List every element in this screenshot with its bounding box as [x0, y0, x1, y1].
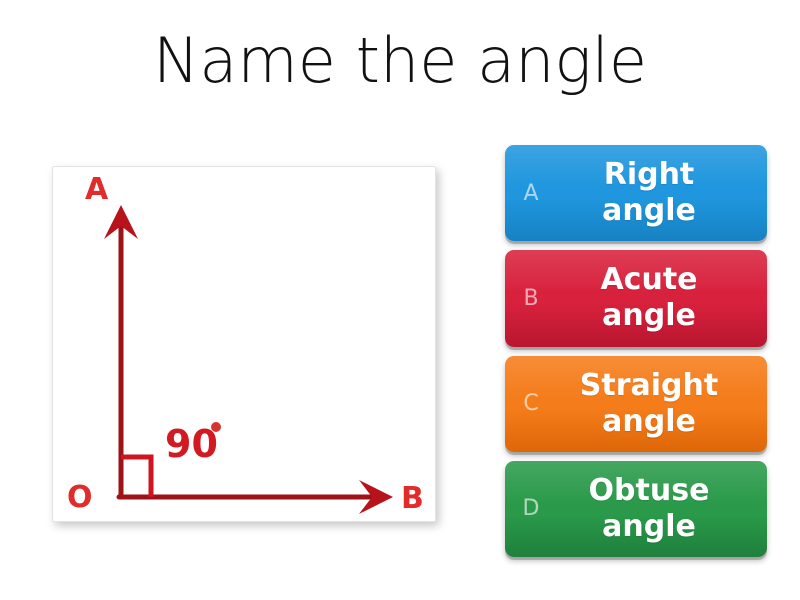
answer-label-c: Straightangle [549, 368, 757, 440]
answer-option-d[interactable]: D Obtuseangle [505, 461, 767, 557]
answer-label-a: Rightangle [549, 157, 757, 229]
angle-measure-value: 90 [165, 422, 218, 466]
answer-key-d: D [513, 496, 549, 521]
answer-key-b: B [513, 286, 549, 311]
answer-options-list: A Rightangle B Acuteangle C Straightangl… [505, 145, 767, 557]
right-angle-diagram: A O B 90 [53, 167, 435, 521]
answer-key-c: C [513, 391, 549, 416]
answer-key-a: A [513, 181, 549, 206]
quiz-page: Name the angle A O B 90 A Rightangle [0, 0, 800, 600]
degree-symbol-icon [211, 422, 221, 432]
answer-label-d: Obtuseangle [549, 473, 757, 545]
label-a: A [85, 172, 109, 207]
label-b: B [401, 481, 424, 516]
answer-label-b: Acuteangle [549, 262, 757, 334]
label-o: O [67, 480, 93, 515]
answer-option-a[interactable]: A Rightangle [505, 145, 767, 241]
answer-option-b[interactable]: B Acuteangle [505, 250, 767, 346]
page-title: Name the angle [0, 22, 800, 100]
question-image-card: A O B 90 [52, 166, 436, 522]
answer-option-c[interactable]: C Straightangle [505, 356, 767, 452]
